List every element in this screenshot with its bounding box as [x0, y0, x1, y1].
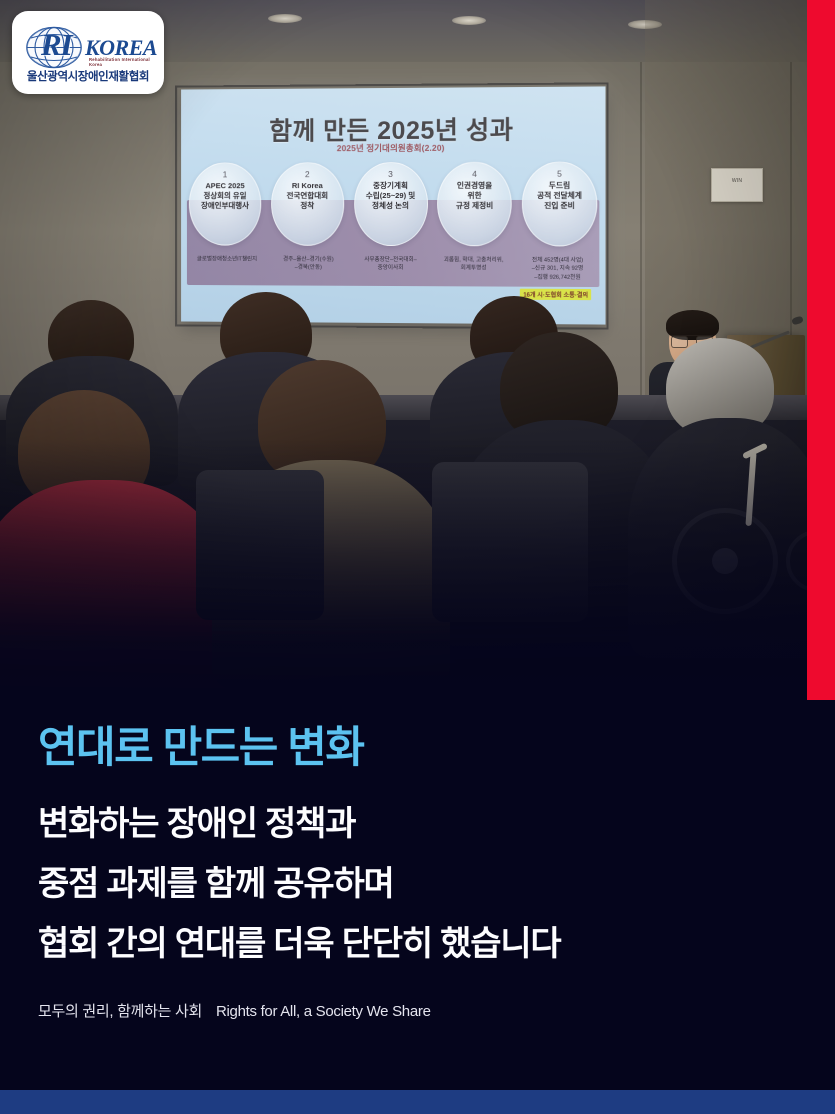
body-line-2: 중점 과제를 함께 공유하며	[38, 846, 797, 906]
organization-logo: RI KOREA Rehabilitation International Ko…	[12, 11, 164, 94]
logo-ri-text: RI	[41, 27, 72, 63]
tagline: 모두의 권리, 함께하는 사회Rights for All, a Society…	[38, 966, 797, 1021]
logo-mark: RI KOREA Rehabilitation International Ko…	[19, 23, 157, 71]
message-block: 연대로 만드는 변화 변화하는 장애인 정책과 중점 과제를 함께 공유하며 협…	[0, 700, 835, 1090]
tagline-korean: 모두의 권리, 함께하는 사회	[38, 1003, 202, 1020]
bottom-bar	[0, 1090, 835, 1114]
headline: 연대로 만드는 변화	[38, 700, 797, 776]
logo-subtitle: Rehabilitation International Korea	[89, 57, 157, 67]
body-line-1: 변화하는 장애인 정책과	[38, 776, 797, 846]
photo-bottom-fade	[0, 440, 835, 700]
body-line-3: 협회 간의 연대를 더욱 단단히 했습니다	[38, 906, 797, 966]
promo-card: WIN 함께 만든 2025년 성과 2025년 정기대의원총회(2.20) 1…	[0, 0, 835, 1114]
tagline-english: Rights for All, a Society We Share	[216, 1003, 431, 1020]
event-photo: WIN 함께 만든 2025년 성과 2025년 정기대의원총회(2.20) 1…	[0, 0, 835, 700]
